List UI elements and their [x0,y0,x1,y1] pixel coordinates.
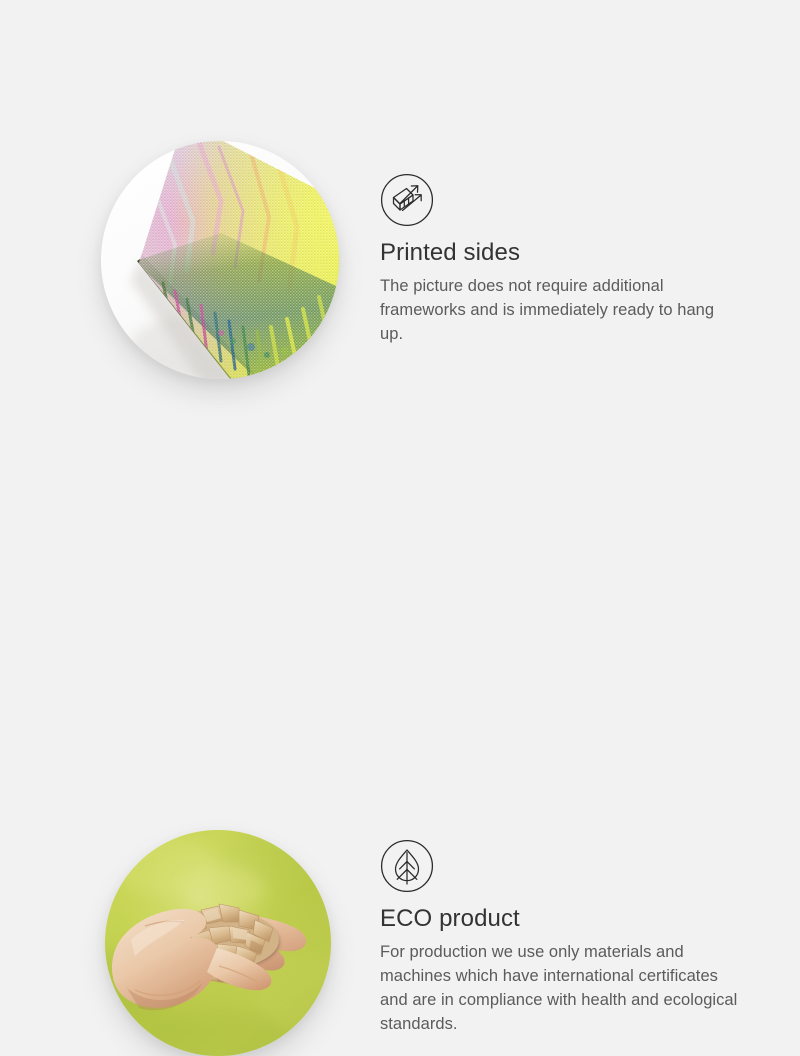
printed-sides-text-block: Printed sides The picture does not requi… [380,238,740,346]
hands-holding-wood-chips-photo [105,830,331,1056]
leaf-icon [380,839,434,893]
product-feature-page: Printed sides The picture does not requi… [0,0,800,800]
feature-description: The picture does not require additional … [380,274,740,346]
eco-product-text-block: ECO product For production we use only m… [380,904,740,1036]
printed-sides-icon [380,173,434,227]
canvas-print-corner-photo [101,141,339,379]
feature-title: Printed sides [380,238,740,268]
feature-eco-product: ECO product For production we use only m… [0,400,800,800]
feature-printed-sides: Printed sides The picture does not requi… [0,0,800,400]
feature-description: For production we use only materials and… [380,940,740,1036]
feature-title: ECO product [380,904,740,934]
